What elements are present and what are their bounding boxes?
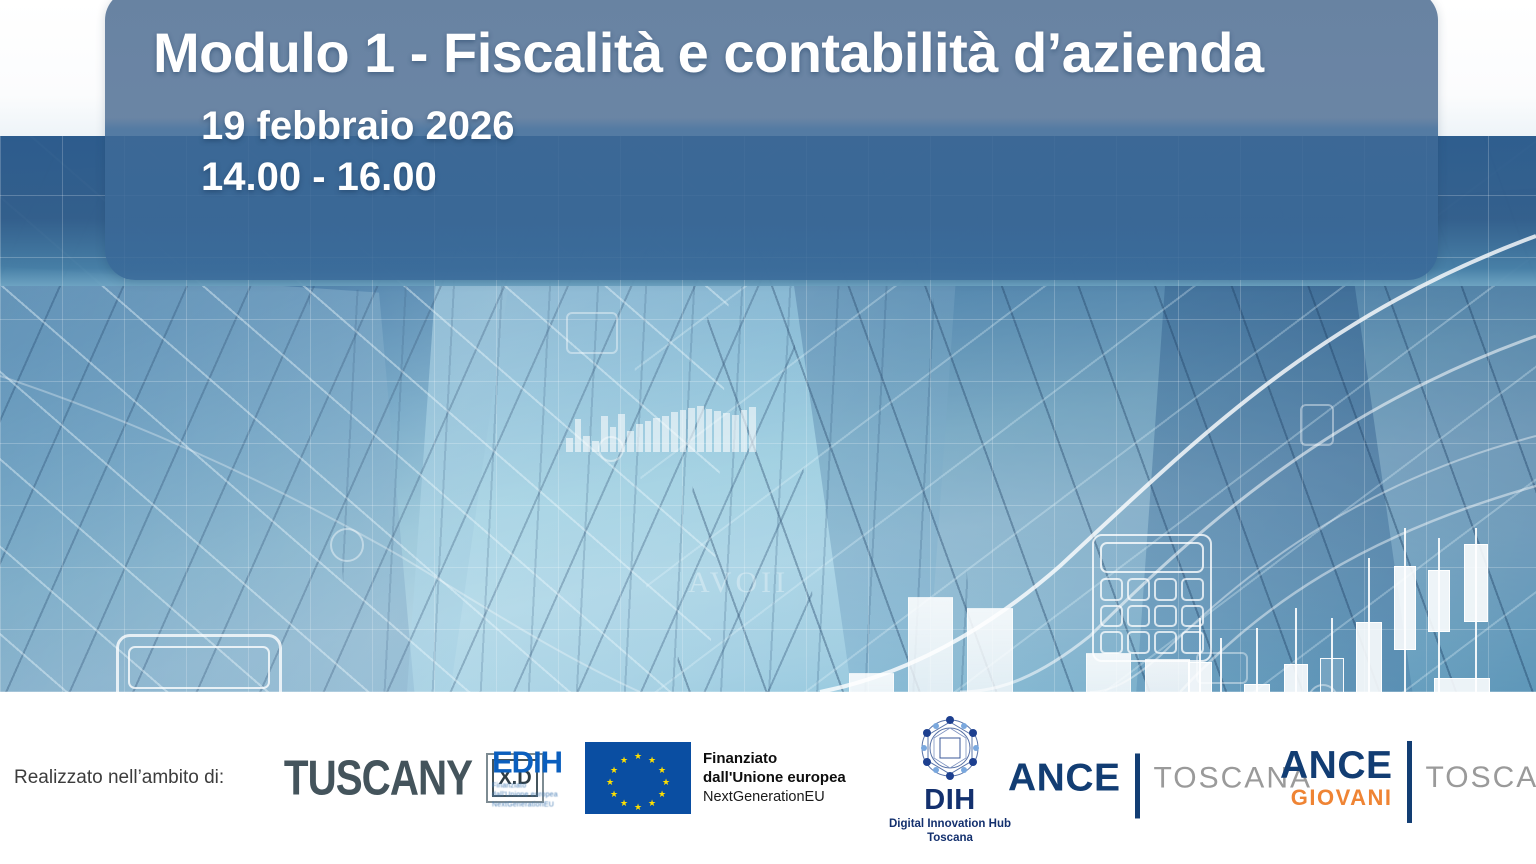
candlestick <box>1284 608 1308 692</box>
faint-text-decal: AVOII <box>688 566 789 600</box>
eu-text-line3: NextGenerationEU <box>703 788 846 806</box>
chart-bar <box>908 597 953 692</box>
dih-network-icon <box>914 712 986 784</box>
mini-bar-chart <box>566 404 756 452</box>
candlestick-body <box>1244 684 1270 692</box>
footer-logo-bar: Realizzato nell’ambito di: TUSCANY X.D E… <box>0 692 1536 864</box>
candlestick-body <box>1356 622 1382 692</box>
candlestick-body <box>1188 662 1212 692</box>
rect-decal-2 <box>1300 404 1334 446</box>
rect-decal-1 <box>566 312 618 354</box>
ance-wordmark: ANCE <box>1008 759 1121 796</box>
candlestick <box>1356 558 1382 692</box>
mini-bar <box>583 436 590 452</box>
candlestick <box>1188 618 1212 692</box>
mini-bar <box>627 431 634 452</box>
eu-text-line1: Finanziato <box>703 750 846 769</box>
footer-label: Realizzato nell’ambito di: <box>14 767 224 789</box>
candlestick-body <box>1464 544 1488 622</box>
promo-banner: AVOII <box>0 0 1536 864</box>
mini-bar <box>662 416 669 452</box>
candlestick <box>1394 528 1416 692</box>
mini-bar <box>741 410 748 452</box>
hero-section: AVOII <box>0 0 1536 692</box>
candlestick-wick <box>1256 628 1258 692</box>
mini-bar <box>601 416 608 452</box>
eu-flag-icon: ★ ★ ★ ★ ★ ★ ★ ★ ★ ★ ★ ★ <box>585 742 691 814</box>
candlestick-body <box>1284 664 1308 692</box>
mini-bar <box>697 406 704 452</box>
candlestick <box>1464 528 1488 692</box>
candlestick <box>1428 538 1450 692</box>
candlestick-body <box>1434 678 1490 692</box>
title-panel: Modulo 1 - Fiscalità e contabilità d’azi… <box>105 0 1438 280</box>
mini-bar <box>653 418 660 452</box>
eu-funding-text: Finanziato dall'Unione europea NextGener… <box>703 750 846 806</box>
candlestick-body <box>1394 566 1416 650</box>
event-date: 19 febbraio 2026 <box>201 101 1438 152</box>
eu-text-line2: dall'Unione europea <box>703 769 846 788</box>
mini-bar <box>618 414 625 452</box>
candlestick-chart-illustration <box>1188 522 1536 692</box>
ance-giovani-region-label: TOSCANA <box>1426 747 1536 809</box>
mini-bar <box>714 411 721 452</box>
mini-bar <box>680 410 687 452</box>
candlestick <box>1320 618 1344 692</box>
calculator-illustration-left <box>116 634 282 692</box>
chart-bar <box>967 608 1012 692</box>
ance-giovani-wordmark: ANCE <box>1280 747 1393 784</box>
calculator-screen <box>128 646 270 689</box>
sponsor-logo-row: TUSCANY X.D EDIH Finanziatodall'Unione e… <box>270 692 1536 864</box>
chart-bar <box>1086 653 1131 692</box>
candlestick <box>1434 678 1490 692</box>
candlestick <box>1210 638 1232 692</box>
mini-bar <box>732 415 739 452</box>
mini-bar <box>688 408 695 452</box>
candlestick-body <box>1320 658 1344 692</box>
ance-giovani-sublabel: GIOVANI <box>1291 787 1393 809</box>
dih-region: Toscana <box>870 832 1030 844</box>
mini-bar <box>723 413 730 452</box>
mini-bar <box>592 441 599 452</box>
logo-dih-toscana[interactable]: DIH Digital Innovation Hub Toscana <box>870 712 1030 844</box>
candlestick <box>1244 628 1270 692</box>
mini-bar <box>706 409 713 452</box>
mini-bar <box>671 412 678 452</box>
tuscany-wordmark: TUSCANY <box>284 753 472 803</box>
chart-bar <box>849 673 894 692</box>
chart-bar <box>1145 659 1190 692</box>
candlestick-wick <box>1220 638 1222 692</box>
mini-bar <box>645 421 652 452</box>
mini-bar <box>636 424 643 452</box>
dih-wordmark: DIH <box>870 786 1030 815</box>
mini-bar <box>566 438 573 452</box>
ance-left-block: ANCE <box>1008 759 1121 796</box>
logo-ance-toscana[interactable]: ANCE TOSCANA <box>1008 759 1312 796</box>
circle-decal-1 <box>330 528 364 562</box>
logo-ance-giovani-toscana[interactable]: ANCE GIOVANI TOSCANA <box>1280 747 1536 809</box>
bar-chart-illustration <box>790 546 1190 692</box>
edih-wordmark: EDIH <box>492 746 562 777</box>
page-title: Modulo 1 - Fiscalità e contabilità d’azi… <box>153 24 1438 83</box>
mini-bar <box>610 427 617 452</box>
ance-giovani-divider <box>1407 741 1412 823</box>
mini-bar <box>749 407 756 452</box>
ance-giovani-left-block: ANCE GIOVANI <box>1280 747 1393 809</box>
dih-subtitle: Digital Innovation Hub <box>870 818 1030 830</box>
candlestick-body <box>1428 570 1450 632</box>
logo-edih[interactable]: EDIH Finanziatodall'Unione europeaNextGe… <box>492 746 562 809</box>
mini-bar <box>575 419 582 452</box>
edih-subtext: Finanziatodall'Unione europeaNextGenerat… <box>492 781 562 809</box>
logo-eu-funding[interactable]: ★ ★ ★ ★ ★ ★ ★ ★ ★ ★ ★ ★ Finanziato dall'… <box>585 742 846 814</box>
event-time: 14.00 - 16.00 <box>201 152 1438 203</box>
ance-divider <box>1135 753 1140 818</box>
